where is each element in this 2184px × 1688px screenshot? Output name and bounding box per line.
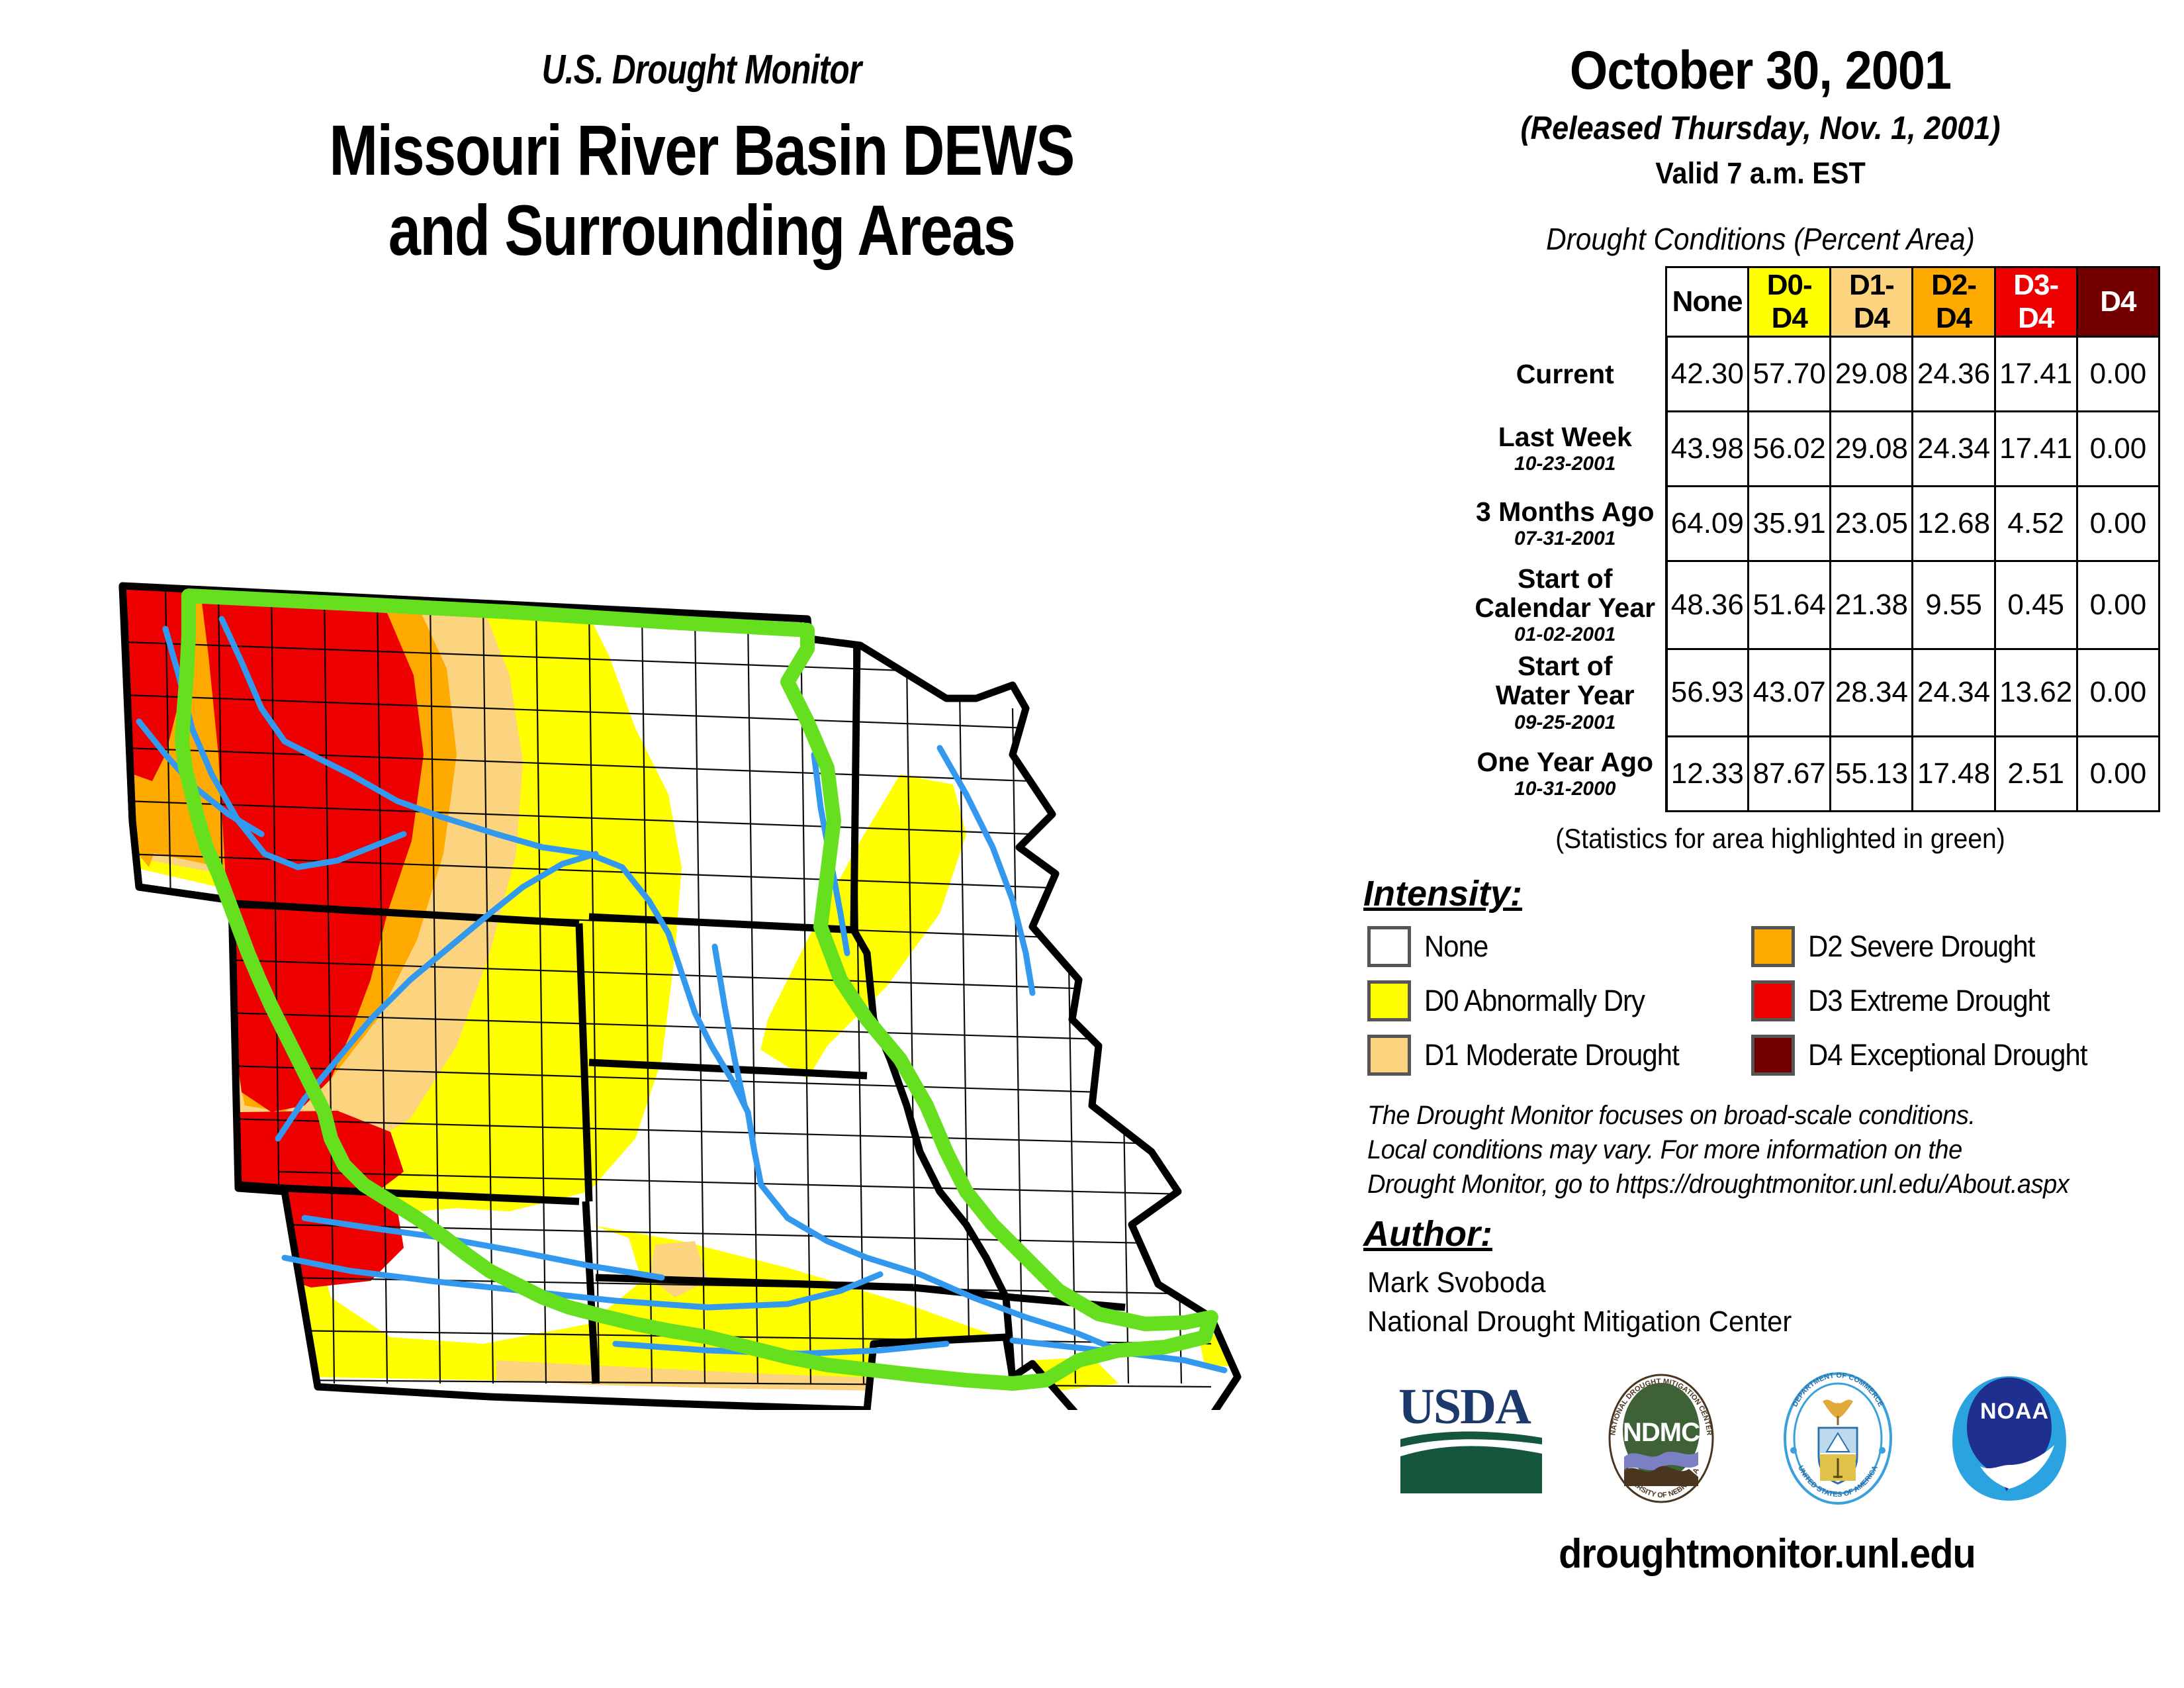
- stats-header-row: None D0-D4 D1-D4 D2-D4 D3-D4 D4: [1465, 267, 2160, 337]
- cell-d2: 24.34: [1913, 649, 1995, 737]
- swatch-d4-icon: [1751, 1035, 1795, 1076]
- logo-row: USDA NDMC NATIONAL DROUGHT MITIGATION CE…: [1395, 1372, 2164, 1508]
- cell-none: 12.33: [1666, 737, 1749, 812]
- legend-item-d1[interactable]: D1 Moderate Drought: [1367, 1035, 1751, 1076]
- stats-header-corner: [1465, 267, 1666, 337]
- cell-d4: 0.00: [2077, 737, 2159, 812]
- cell-d1: 55.13: [1831, 737, 1913, 812]
- row-label-start-of-water-year: Start ofWater Year 09-25-2001: [1465, 649, 1666, 737]
- author-block: Mark Svoboda National Drought Mitigation…: [1367, 1264, 2124, 1342]
- legend-title: Intensity:: [1363, 873, 2164, 914]
- disclaimer-line-1: The Drought Monitor focuses on broad-sca…: [1367, 1098, 2124, 1133]
- cell-d2: 24.36: [1913, 337, 1995, 412]
- col-header-d0-d4: D0-D4: [1749, 267, 1831, 337]
- product-subtitle: U.S. Drought Monitor: [204, 46, 1199, 93]
- page-title-line2: and Surrounding Areas: [191, 191, 1212, 271]
- cell-d0: 56.02: [1749, 412, 1831, 487]
- legend-grid: None D2 Severe Drought D0 Abnormally Dry…: [1367, 926, 2164, 1076]
- cell-d0: 87.67: [1749, 737, 1831, 812]
- legend-label: D3 Extreme Drought: [1808, 984, 2050, 1018]
- cell-d3: 0.45: [1995, 561, 2077, 649]
- svg-text:USDA: USDA: [1398, 1379, 1531, 1434]
- disclaimer-text: The Drought Monitor focuses on broad-sca…: [1367, 1098, 2124, 1201]
- legend-item-none[interactable]: None: [1367, 926, 1751, 967]
- author-organization: National Drought Mitigation Center: [1367, 1303, 2124, 1342]
- legend-label: None: [1424, 929, 1488, 964]
- col-header-none: None: [1666, 267, 1749, 337]
- legend-item-d4[interactable]: D4 Exceptional Drought: [1751, 1035, 2161, 1076]
- doc-logo: DEPARTMENT OF COMMERCE UNITED STATES OF …: [1775, 1372, 1901, 1508]
- col-header-d3-d4: D3-D4: [1995, 267, 2077, 337]
- row-label-date: 10-31-2000: [1469, 778, 1661, 800]
- row-label-text: Last Week: [1469, 422, 1661, 451]
- row-label-text: Start ofCalendar Year: [1469, 564, 1661, 623]
- col-header-d2-d4: D2-D4: [1913, 267, 1995, 337]
- table-row: 3 Months Ago 07-31-2001 64.09 35.91 23.0…: [1465, 487, 2160, 561]
- table-row: Current 42.30 57.70 29.08 24.36 17.41 0.…: [1465, 337, 2160, 412]
- row-label-text: One Year Ago: [1469, 747, 1661, 776]
- cell-d2: 9.55: [1913, 561, 1995, 649]
- legend-label: D0 Abnormally Dry: [1424, 984, 1645, 1018]
- drought-map[interactable]: [86, 556, 1297, 1410]
- cell-d3: 2.51: [1995, 737, 2077, 812]
- cell-none: 42.30: [1666, 337, 1749, 412]
- intensity-legend: Intensity: None D2 Severe Drought D0 Abn…: [1357, 873, 2164, 1076]
- legend-label: D2 Severe Drought: [1808, 929, 2034, 964]
- row-label-date: 10-23-2001: [1469, 453, 1661, 475]
- cell-d4: 0.00: [2077, 412, 2159, 487]
- cell-d0: 35.91: [1749, 487, 1831, 561]
- swatch-d0-icon: [1367, 980, 1411, 1021]
- cell-d4: 0.00: [2077, 561, 2159, 649]
- stats-table-body: Current 42.30 57.70 29.08 24.36 17.41 0.…: [1465, 337, 2160, 812]
- cell-d1: 23.05: [1831, 487, 1913, 561]
- cell-d4: 0.00: [2077, 649, 2159, 737]
- page-title-line1: Missouri River Basin DEWS: [191, 111, 1212, 191]
- cell-d2: 17.48: [1913, 737, 1995, 812]
- usda-logo: USDA: [1395, 1376, 1547, 1505]
- col-header-d4: D4: [2077, 267, 2159, 337]
- cell-d1: 21.38: [1831, 561, 1913, 649]
- row-label-current: Current: [1465, 337, 1666, 412]
- cell-d0: 51.64: [1749, 561, 1831, 649]
- noaa-logo: NOAA: [1948, 1372, 2071, 1508]
- stats-table-note: (Statistics for area highlighted in gree…: [1424, 823, 2138, 855]
- table-row: Start ofWater Year 09-25-2001 56.93 43.0…: [1465, 649, 2160, 737]
- site-url[interactable]: droughtmonitor.unl.edu: [1398, 1530, 2136, 1577]
- row-label-start-of-calendar-year: Start ofCalendar Year 01-02-2001: [1465, 561, 1666, 649]
- cell-d4: 0.00: [2077, 337, 2159, 412]
- row-label-text: Current: [1469, 359, 1661, 389]
- col-header-d1-d4: D1-D4: [1831, 267, 1913, 337]
- legend-label: D1 Moderate Drought: [1424, 1038, 1679, 1072]
- right-panel: October 30, 2001 (Released Thursday, Nov…: [1357, 40, 2164, 1577]
- noaa-wordmark: NOAA: [1980, 1399, 2049, 1424]
- cell-d3: 17.41: [1995, 412, 2077, 487]
- cell-none: 43.98: [1666, 412, 1749, 487]
- cell-none: 64.09: [1666, 487, 1749, 561]
- row-label-last-week: Last Week 10-23-2001: [1465, 412, 1666, 487]
- cell-d2: 12.68: [1913, 487, 1995, 561]
- legend-item-d0[interactable]: D0 Abnormally Dry: [1367, 980, 1751, 1021]
- legend-item-d3[interactable]: D3 Extreme Drought: [1751, 980, 2161, 1021]
- row-label-date: 07-31-2001: [1469, 528, 1661, 550]
- cell-d1: 29.08: [1831, 412, 1913, 487]
- report-date: October 30, 2001: [1397, 40, 2124, 102]
- cell-d1: 28.34: [1831, 649, 1913, 737]
- cell-d1: 29.08: [1831, 337, 1913, 412]
- cell-d4: 0.00: [2077, 487, 2159, 561]
- report-release-date: (Released Thursday, Nov. 1, 2001): [1389, 110, 2132, 147]
- report-valid-time: Valid 7 a.m. EST: [1389, 156, 2132, 191]
- ndmc-logo: NDMC NATIONAL DROUGHT MITIGATION CENTER …: [1595, 1372, 1727, 1508]
- map-svg[interactable]: [86, 556, 1297, 1410]
- row-label-date: 09-25-2001: [1469, 712, 1661, 734]
- stats-table-caption: Drought Conditions (Percent Area): [1389, 221, 2132, 257]
- cell-d0: 43.07: [1749, 649, 1831, 737]
- cell-d3: 13.62: [1995, 649, 2077, 737]
- row-label-3-months-ago: 3 Months Ago 07-31-2001: [1465, 487, 1666, 561]
- disclaimer-line-2: Local conditions may vary. For more info…: [1367, 1133, 2124, 1167]
- row-label-one-year-ago: One Year Ago 10-31-2000: [1465, 737, 1666, 812]
- cell-d0: 57.70: [1749, 337, 1831, 412]
- row-label-text: 3 Months Ago: [1469, 497, 1661, 526]
- stats-table-head: None D0-D4 D1-D4 D2-D4 D3-D4 D4: [1465, 267, 2160, 337]
- drought-conditions-table: None D0-D4 D1-D4 D2-D4 D3-D4 D4 Current …: [1465, 266, 2160, 812]
- table-row: Last Week 10-23-2001 43.98 56.02 29.08 2…: [1465, 412, 2160, 487]
- svg-text:NDMC: NDMC: [1623, 1418, 1700, 1447]
- cell-d2: 24.34: [1913, 412, 1995, 487]
- author-name: Mark Svoboda: [1367, 1264, 2124, 1303]
- cell-d3: 4.52: [1995, 487, 2077, 561]
- swatch-none-icon: [1367, 926, 1411, 967]
- row-label-date: 01-02-2001: [1469, 624, 1661, 646]
- table-row: Start ofCalendar Year 01-02-2001 48.36 5…: [1465, 561, 2160, 649]
- swatch-d2-icon: [1751, 926, 1795, 967]
- legend-label: D4 Exceptional Drought: [1808, 1038, 2087, 1072]
- cell-d3: 17.41: [1995, 337, 2077, 412]
- table-row: One Year Ago 10-31-2000 12.33 87.67 55.1…: [1465, 737, 2160, 812]
- row-label-text: Start ofWater Year: [1469, 651, 1661, 710]
- title-block: U.S. Drought Monitor Missouri River Basi…: [79, 46, 1324, 271]
- swatch-d1-icon: [1367, 1035, 1411, 1076]
- cell-none: 48.36: [1666, 561, 1749, 649]
- legend-item-d2[interactable]: D2 Severe Drought: [1751, 926, 2161, 967]
- cell-none: 56.93: [1666, 649, 1749, 737]
- disclaimer-line-3: Drought Monitor, go to https://droughtmo…: [1367, 1167, 2124, 1201]
- author-heading: Author:: [1363, 1213, 2164, 1254]
- swatch-d3-icon: [1751, 980, 1795, 1021]
